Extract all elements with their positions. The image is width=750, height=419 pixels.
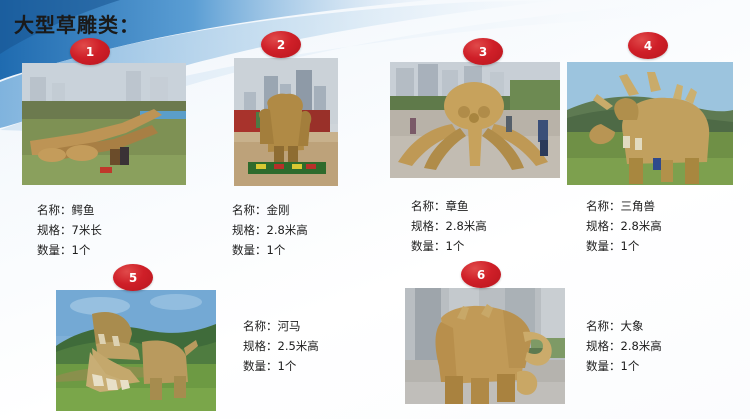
spec-value: 7米长	[72, 223, 102, 237]
qty-label: 数量：	[243, 359, 278, 373]
qty-label: 数量：	[586, 359, 621, 373]
elephant-photo-art	[405, 288, 565, 404]
item-text-4: 名称：三角兽 规格：2.8米高 数量：1个	[586, 196, 662, 256]
item-text-5: 名称：河马 规格：2.5米高 数量：1个	[243, 316, 319, 376]
name-value: 鳄鱼	[72, 203, 95, 217]
badge-number: 6	[477, 268, 485, 282]
qty-value: 1个	[278, 359, 297, 373]
badge-number: 4	[644, 39, 652, 53]
name-value: 章鱼	[446, 199, 469, 213]
item-badge-4: 4	[628, 32, 668, 59]
item-badge-5: 5	[113, 264, 153, 291]
name-label: 名称：	[586, 319, 621, 333]
item-photo-3[interactable]	[390, 62, 560, 178]
qty-label: 数量：	[37, 243, 72, 257]
spec-label: 规格：	[586, 339, 621, 353]
qty-label: 数量：	[411, 239, 446, 253]
badge-number: 5	[129, 271, 137, 285]
triceratops-photo-art	[567, 62, 733, 185]
slide-canvas: 1 名称：鳄鱼 规格：7米长 数量：1个 2	[0, 0, 750, 419]
item-photo-2[interactable]	[234, 58, 338, 186]
qty-value: 1个	[267, 243, 286, 257]
spec-value: 2.5米高	[278, 339, 319, 353]
item-text-1: 名称：鳄鱼 规格：7米长 数量：1个	[37, 200, 102, 260]
spec-label: 规格：	[411, 219, 446, 233]
item-badge-1: 1	[70, 38, 110, 65]
item-badge-2: 2	[261, 31, 301, 58]
badge-number: 1	[86, 45, 94, 59]
name-label: 名称：	[586, 199, 621, 213]
qty-label: 数量：	[232, 243, 267, 257]
name-label: 名称：	[37, 203, 72, 217]
name-label: 名称：	[411, 199, 446, 213]
hippo-photo-art	[56, 290, 216, 411]
octopus-photo-art	[390, 62, 560, 178]
qty-value: 1个	[72, 243, 91, 257]
name-value: 三角兽	[621, 199, 656, 213]
item-text-6: 名称：大象 规格：2.8米高 数量：1个	[586, 316, 662, 376]
spec-label: 规格：	[586, 219, 621, 233]
item-photo-1[interactable]	[22, 63, 186, 185]
name-value: 大象	[621, 319, 644, 333]
qty-value: 1个	[621, 359, 640, 373]
qty-label: 数量：	[586, 239, 621, 253]
name-value: 河马	[278, 319, 301, 333]
name-label: 名称：	[243, 319, 278, 333]
item-photo-6[interactable]	[405, 288, 565, 404]
spec-value: 2.8米高	[267, 223, 308, 237]
item-text-2: 名称：金刚 规格：2.8米高 数量：1个	[232, 200, 308, 260]
crocodile-photo-art	[22, 63, 186, 185]
qty-value: 1个	[621, 239, 640, 253]
name-label: 名称：	[232, 203, 267, 217]
item-photo-4[interactable]	[567, 62, 733, 185]
spec-label: 规格：	[232, 223, 267, 237]
king-kong-photo-art	[234, 58, 338, 186]
spec-value: 2.8米高	[446, 219, 487, 233]
name-value: 金刚	[267, 203, 290, 217]
item-badge-6: 6	[461, 261, 501, 288]
qty-value: 1个	[446, 239, 465, 253]
page-title: 大型草雕类：	[14, 9, 140, 38]
item-photo-5[interactable]	[56, 290, 216, 411]
spec-value: 2.8米高	[621, 219, 662, 233]
badge-number: 3	[479, 45, 487, 59]
badge-number: 2	[277, 38, 285, 52]
item-text-3: 名称：章鱼 规格：2.8米高 数量：1个	[411, 196, 487, 256]
spec-label: 规格：	[37, 223, 72, 237]
spec-label: 规格：	[243, 339, 278, 353]
spec-value: 2.8米高	[621, 339, 662, 353]
item-badge-3: 3	[463, 38, 503, 65]
